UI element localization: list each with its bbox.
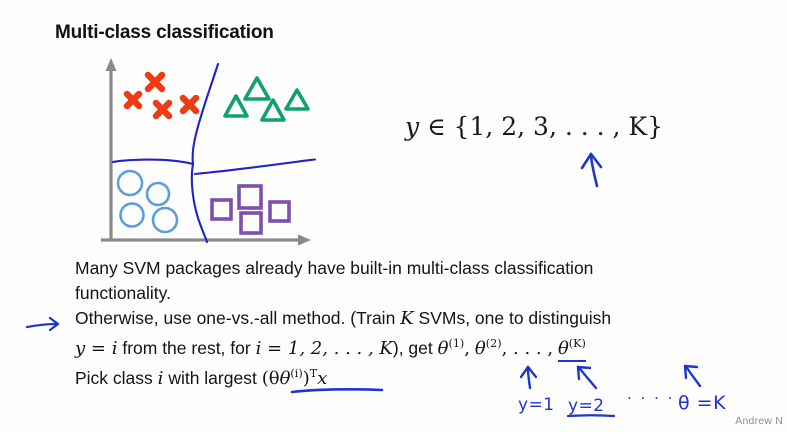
marker-square — [241, 213, 261, 233]
body-line-4: y = i from the rest, for i = 1, 2, . . .… — [55, 331, 785, 361]
marker-circle — [118, 171, 142, 195]
multi-class-scatter-plot — [95, 52, 325, 252]
marker-triangle — [286, 90, 308, 109]
body-line-3-part-b: SVMs, one to distinguish — [419, 308, 612, 328]
marker-square — [239, 186, 261, 208]
slide-canvas: Multi-class classification — [0, 0, 787, 435]
body-line-5: Pick class i with largest (θθ(i))Tx — [55, 361, 785, 391]
boundary-lower-vertical — [192, 164, 207, 242]
set-notation-formula: y ∈ {1, 2, 3, . . . , K} — [405, 112, 695, 192]
marker-x — [156, 103, 169, 116]
boundary-right-horizontal — [195, 160, 315, 175]
arrow-pointing-to-otherwise — [27, 318, 58, 330]
body-line-2: functionality. — [55, 281, 785, 306]
marker-x — [148, 75, 162, 89]
plot-axes — [101, 58, 311, 246]
body-line-5-i: i — [158, 368, 164, 389]
formula-variable-y: y — [405, 112, 419, 141]
hand-label-theta-equals-K: θ =K — [678, 392, 726, 414]
x-axis-arrowhead — [298, 235, 311, 246]
presenter-watermark: Andrew N — [735, 415, 783, 427]
body-line-3-K: K — [400, 308, 413, 329]
theta-1: θ(1) — [438, 338, 465, 359]
marker-square — [270, 202, 289, 221]
theta-2: θ(2) — [475, 338, 502, 359]
marker-triangle — [245, 78, 269, 99]
hand-label-y2: y=2 — [568, 396, 605, 416]
formula-text: y ∈ {1, 2, 3, . . . , K} — [405, 112, 695, 141]
class-squares — [212, 186, 289, 233]
body-line-4-part-d: ), get — [393, 338, 433, 358]
marker-square — [212, 200, 231, 219]
body-line-4-i-range: i = 1, 2, . . . , K — [256, 338, 393, 359]
formula-set: {1, 2, 3, . . . , K} — [454, 112, 663, 141]
plot-svg — [95, 52, 325, 252]
formula-element-of-symbol: ∈ — [427, 112, 446, 141]
marker-triangle — [262, 100, 284, 120]
marker-x — [127, 94, 139, 106]
marker-circle — [153, 208, 177, 232]
body-line-3: Otherwise, use one-vs.-all method. (Trai… — [55, 306, 785, 331]
body-line-3-part-a: Otherwise, use one-vs.-all method. (Trai… — [75, 308, 395, 328]
class-x-marks — [127, 75, 196, 116]
body-line-4-part-b: from the rest, for — [122, 338, 250, 358]
body-line-5-part-a: Pick class — [75, 368, 153, 388]
theta-transpose-x: (θθ(i))Tx — [262, 368, 328, 389]
page-title: Multi-class classification — [55, 22, 274, 44]
body-line-4-dots: , . . . , — [502, 338, 554, 359]
class-circles — [118, 171, 177, 232]
class-triangles — [225, 78, 308, 120]
underline-hand-y2 — [568, 415, 614, 416]
theta-K: θ(K) — [558, 338, 586, 362]
body-line-4-y-equals-i: y = i — [75, 338, 117, 359]
body-line-1: Many SVM packages already have built-in … — [55, 256, 785, 281]
hand-label-y1: y=1 — [518, 395, 555, 415]
y-axis-arrowhead — [106, 58, 117, 71]
marker-circle — [121, 204, 144, 227]
marker-x — [183, 98, 196, 111]
arrow-pointing-to-K — [575, 144, 695, 189]
marker-circle — [147, 183, 169, 205]
body-text-block: Many SVM packages already have built-in … — [55, 256, 785, 391]
body-line-5-part-b: with largest — [168, 368, 257, 388]
boundary-left-horizontal — [113, 160, 193, 164]
